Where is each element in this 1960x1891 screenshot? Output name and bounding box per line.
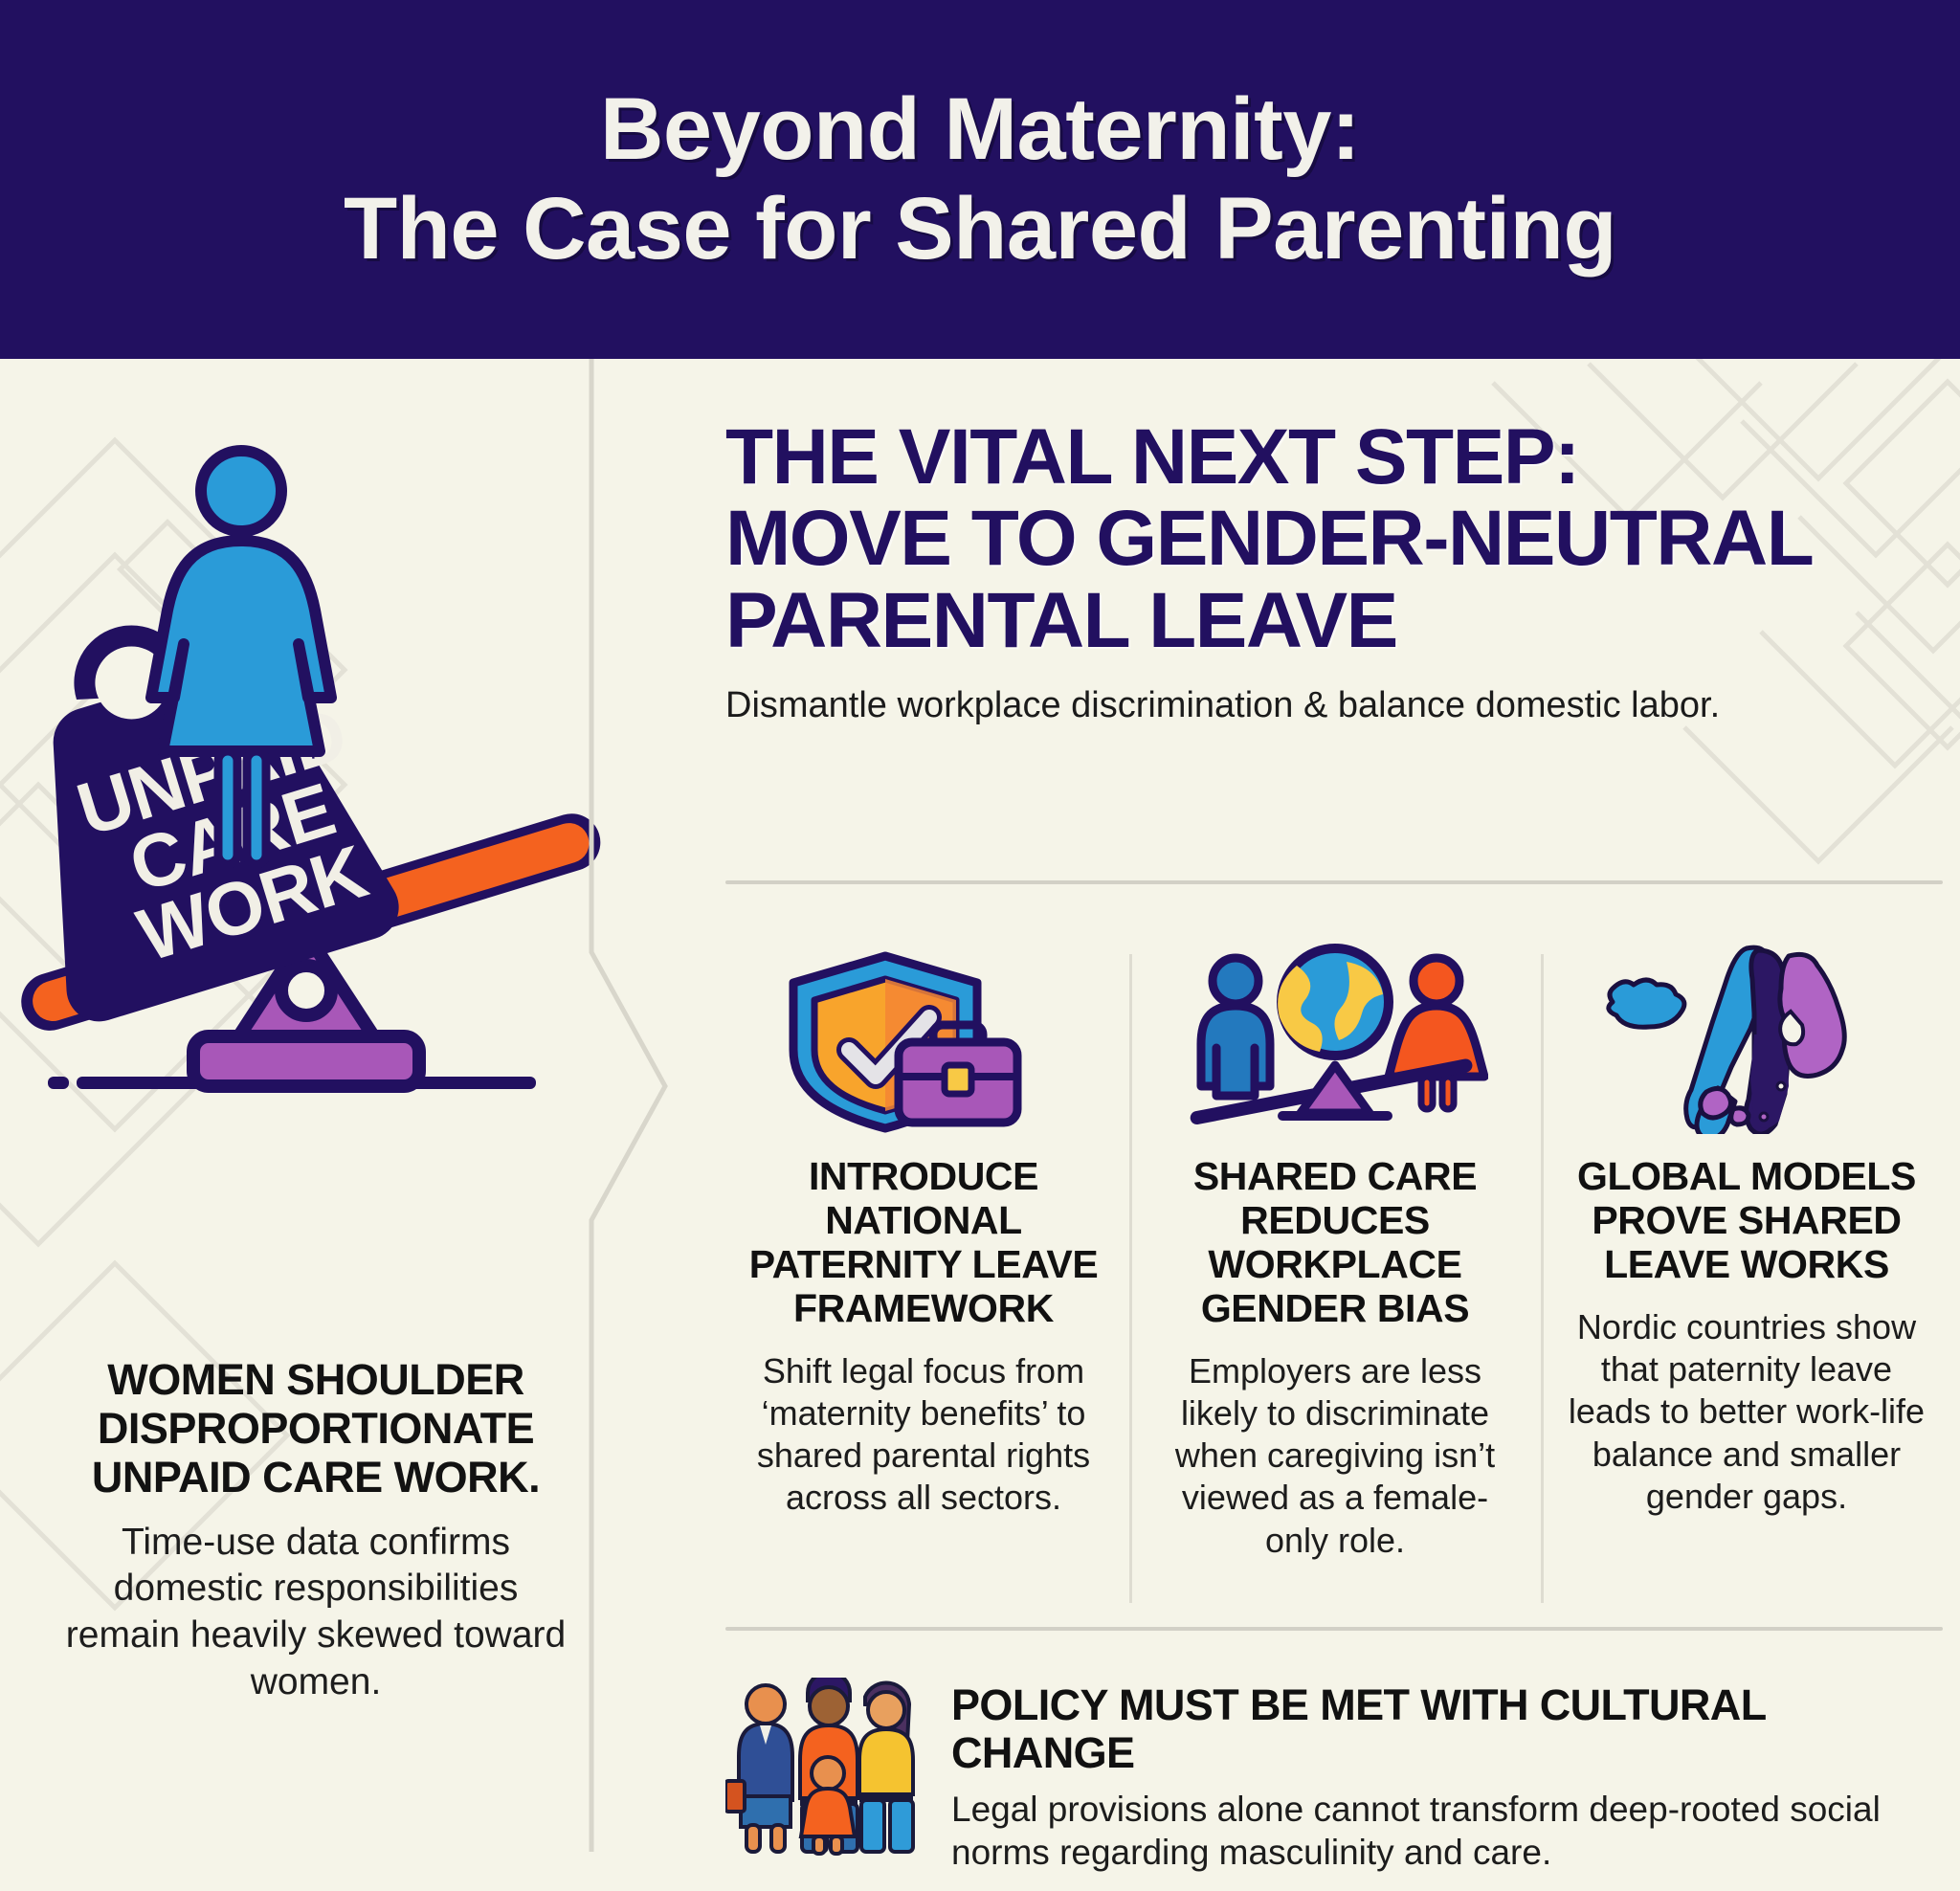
left-panel-body: Time-use data confirms domestic responsi…	[57, 1520, 574, 1706]
infographic-page: Beyond Maternity: The Case for Shared Pa…	[0, 0, 1960, 1891]
main-subtitle: Dismantle workplace discrimination & bal…	[725, 684, 1941, 728]
footer-callout: POLICY MUST BE MET WITH CULTURAL CHANGE …	[725, 1678, 1950, 1869]
divider-top	[725, 880, 1943, 884]
footer-body: Legal provisions alone cannot transform …	[951, 1788, 1950, 1874]
kicker-line-2: MOVE TO GENDER-NEUTRAL	[725, 495, 1813, 582]
section-divider-chevron	[574, 359, 679, 1891]
page-title-line2: The Case for Shared Parenting	[344, 180, 1616, 278]
footer-title: POLICY MUST BE MET WITH CULTURAL CHANGE	[951, 1681, 1950, 1776]
left-panel-headline: WOMEN SHOULDER DISPROPORTIONATE UNPAID C…	[57, 1356, 574, 1502]
nordic-countries-map-icon	[1593, 943, 1900, 1134]
divider-bottom	[725, 1627, 1943, 1631]
card-global-models[interactable]: GLOBAL MODELS PROVE SHARED LEAVE WORKS N…	[1541, 943, 1952, 1613]
infographic-body: UNPAID CARE WORK WOMEN SHOULDER DISPROPO…	[0, 359, 1960, 1891]
card-body: Shift legal focus from ‘maternity benefi…	[739, 1350, 1108, 1520]
card-body: Employers are less likely to discriminat…	[1150, 1350, 1520, 1562]
main-kicker: THE VITAL NEXT STEP: MOVE TO GENDER-NEUT…	[725, 416, 1941, 727]
left-panel: UNPAID CARE WORK WOMEN SHOULDER DISPROPO…	[19, 388, 612, 1842]
card-title: GLOBAL MODELS PROVE SHARED LEAVE WORKS	[1562, 1155, 1931, 1287]
kicker-line-1: THE VITAL NEXT STEP:	[725, 413, 1579, 501]
kicker-line-3: PARENTAL LEAVE	[725, 577, 1397, 664]
footer-text: POLICY MUST BE MET WITH CULTURAL CHANGE …	[951, 1678, 1950, 1874]
card-body: Nordic countries show that paternity lea…	[1562, 1306, 1931, 1518]
globe-seesaw-gender-balance-icon	[1182, 943, 1488, 1134]
header-band: Beyond Maternity: The Case for Shared Pa…	[0, 0, 1960, 359]
family-group-icon	[725, 1678, 926, 1860]
main-content: THE VITAL NEXT STEP: MOVE TO GENDER-NEUT…	[708, 359, 1943, 1891]
page-title-line1: Beyond Maternity:	[600, 80, 1360, 178]
card-paternity-framework[interactable]: INTRODUCE NATIONAL PATERNITY LEAVE FRAME…	[718, 943, 1129, 1613]
left-panel-caption: WOMEN SHOULDER DISPROPORTIONATE UNPAID C…	[57, 1356, 574, 1706]
cards-row: INTRODUCE NATIONAL PATERNITY LEAVE FRAME…	[718, 943, 1952, 1613]
page-title: Beyond Maternity: The Case for Shared Pa…	[305, 80, 1655, 278]
card-shared-care-bias[interactable]: SHARED CARE REDUCES WORKPLACE GENDER BIA…	[1129, 943, 1541, 1613]
card-title: INTRODUCE NATIONAL PATERNITY LEAVE FRAME…	[739, 1155, 1108, 1331]
shield-check-briefcase-icon	[780, 943, 1067, 1134]
card-title: SHARED CARE REDUCES WORKPLACE GENDER BIA…	[1150, 1155, 1520, 1331]
unbalanced-scale-illustration: UNPAID CARE WORK	[19, 416, 612, 1373]
